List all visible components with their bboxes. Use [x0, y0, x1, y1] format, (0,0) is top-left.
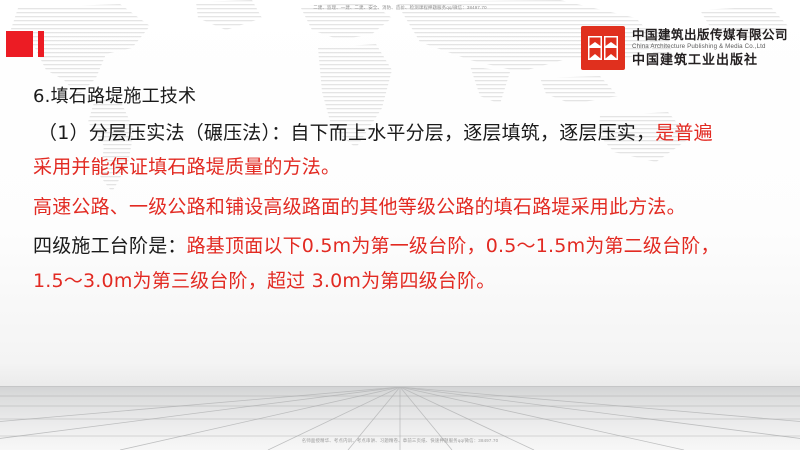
- content-line-5-run-1: 1.5～3.0m为第三级台阶，超过 3.0m为第四级台阶。: [33, 270, 496, 292]
- content-line-3-run-1: 高速公路、一级公路和铺设高级路面的其他等级公路的填石路堤采用此方法。: [33, 196, 686, 218]
- content-line-4-run-1: 四级施工台阶是：: [33, 235, 187, 257]
- slide-heading: 6.填石路堤施工技术: [33, 82, 196, 108]
- content-line-1-run-2: 是普遍: [655, 122, 713, 144]
- content-line-1-run-1: （1）分层压实法（碾压法）：自下而上水平分层，逐层填筑，逐层压实，: [38, 122, 655, 144]
- content-line-5: 1.5～3.0m为第三级台阶，超过 3.0m为第四级台阶。: [33, 266, 496, 293]
- slide-content: 6.填石路堤施工技术 （1）分层压实法（碾压法）：自下而上水平分层，逐层填筑，逐…: [0, 0, 800, 386]
- content-line-4: 四级施工台阶是：路基顶面以下0.5m为第一级台阶，0.5～1.5m为第二级台阶，: [33, 231, 720, 258]
- content-line-2: 采用并能保证填石路堤质量的方法。: [33, 152, 340, 179]
- content-line-4-run-2: 路基顶面以下0.5m为第一级台阶，0.5～1.5m为第二级台阶，: [187, 235, 720, 257]
- watermark-bottom: 名师面授精华、考点内训、考点串讲、习题精卷、章前三页纸、快速押题服务qq/微信：…: [0, 438, 800, 444]
- content-line-1: （1）分层压实法（碾压法）：自下而上水平分层，逐层填筑，逐层压实，是普遍: [38, 118, 713, 145]
- content-line-3: 高速公路、一级公路和铺设高级路面的其他等级公路的填石路堤采用此方法。: [33, 192, 686, 219]
- floor-edge: [0, 386, 800, 387]
- content-line-2-run-1: 采用并能保证填石路堤质量的方法。: [33, 156, 340, 178]
- slide-canvas: 中国建筑出版传媒有限公司 China Architecture Publishi…: [0, 0, 800, 450]
